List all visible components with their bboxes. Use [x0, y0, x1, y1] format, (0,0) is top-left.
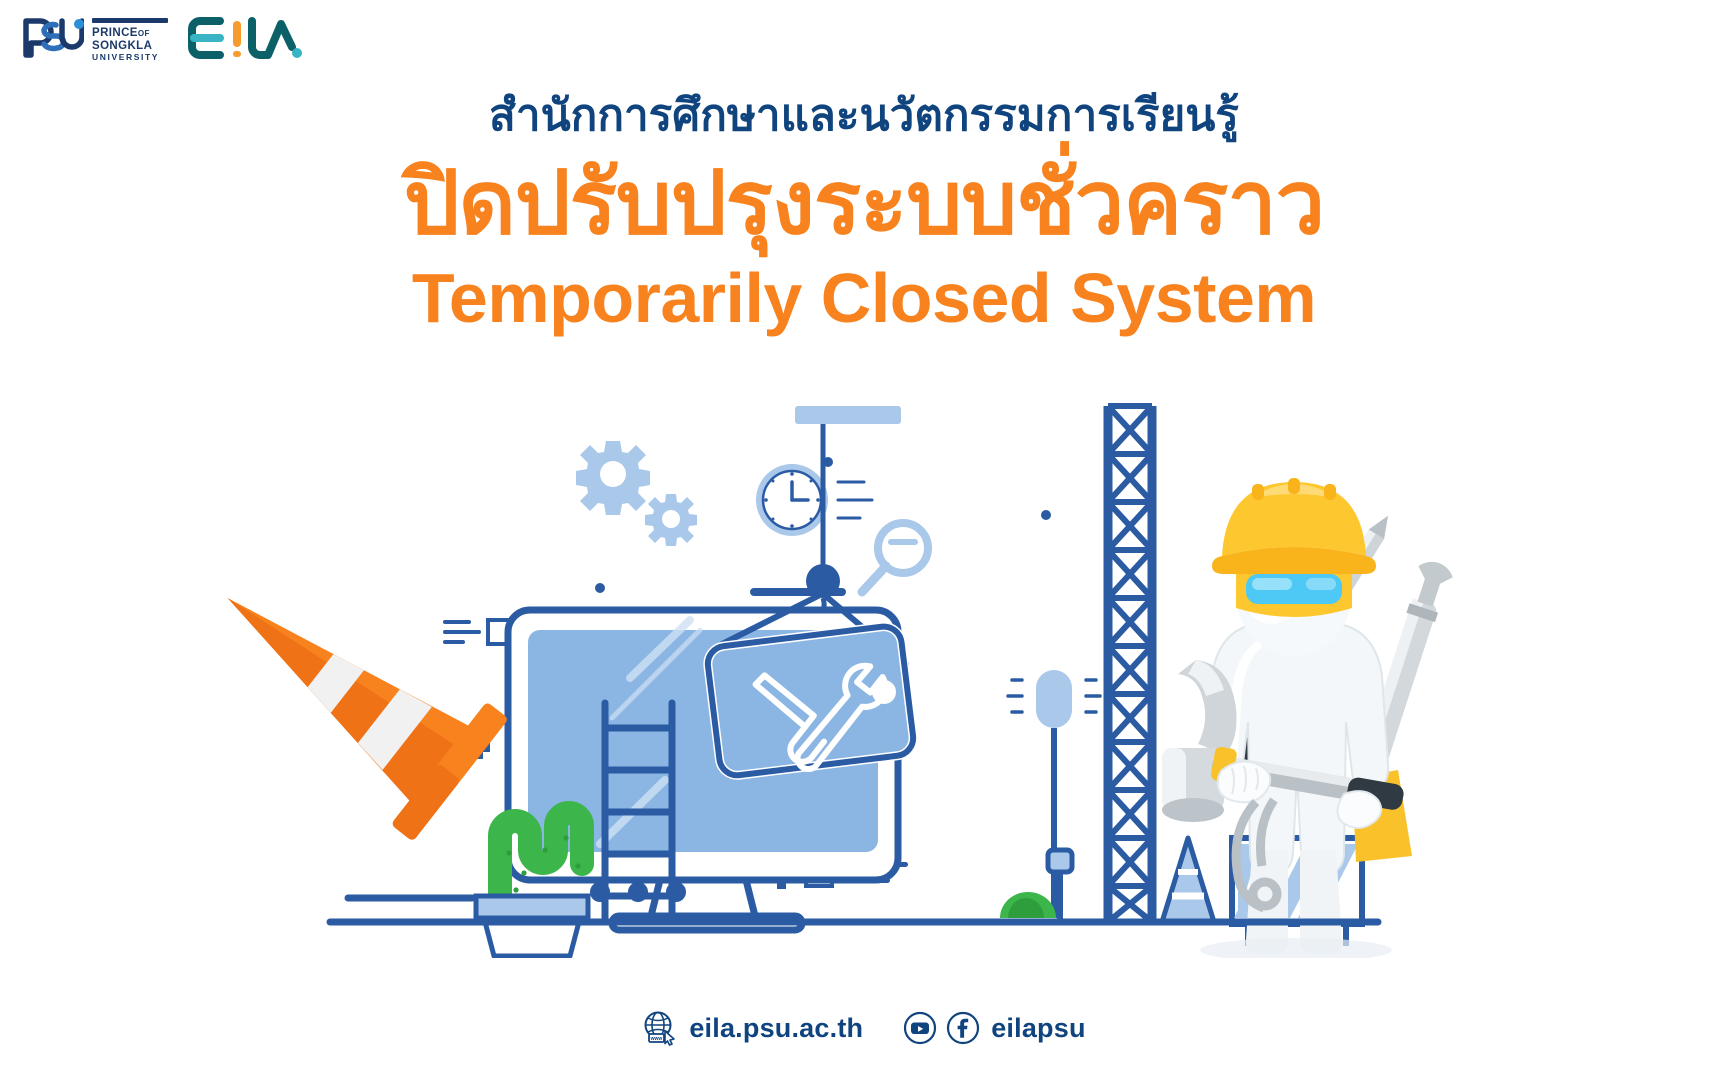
headings-block: สำนักการศึกษาและนวัตกรรมการเรียนรู้ ปิดป… [0, 88, 1728, 338]
title-english: Temporarily Closed System [0, 258, 1728, 339]
psu-monogram-icon [22, 15, 84, 61]
small-cone-icon [1162, 838, 1214, 922]
crane-tower-icon [1108, 406, 1152, 922]
psu-rule-divider [92, 18, 168, 23]
poster-canvas: PRINCEOF SONGKLA UNIVERSITY สำนักการศึกษ… [0, 0, 1728, 1080]
subtitle-thai: สำนักการศึกษาและนวัตกรรมการเรียนรู้ [0, 88, 1728, 143]
cactus-plant-icon [476, 813, 588, 956]
title-thai: ปิดปรับปรุงระบบชั่วคราว [0, 147, 1728, 260]
wall-clock-icon [756, 464, 872, 536]
facebook-icon[interactable] [946, 1011, 980, 1045]
social-icons [903, 1011, 980, 1045]
gears-icon [576, 441, 697, 546]
traffic-cone-icon [180, 536, 509, 841]
globe-www-icon: www [642, 1010, 678, 1046]
eila-logo-icon [188, 15, 304, 61]
social-group[interactable]: eilapsu [903, 1011, 1085, 1045]
logo-bar: PRINCEOF SONGKLA UNIVERSITY [22, 12, 304, 64]
psu-line-university: UNIVERSITY [92, 53, 168, 62]
website-url: eila.psu.ac.th [689, 1013, 863, 1044]
svg-text:www: www [650, 1036, 663, 1042]
ladder-feet [590, 882, 686, 902]
psu-wordmark: PRINCEOF SONGKLA UNIVERSITY [92, 14, 168, 63]
worker-mascot-icon [1162, 478, 1456, 958]
footer-bar: www eila.psu.ac.th eilapsu [0, 1010, 1728, 1046]
maintenance-illustration [0, 398, 1728, 958]
psu-line-prince: PRINCEOF [92, 27, 168, 39]
psu-logo: PRINCEOF SONGKLA UNIVERSITY [22, 14, 168, 63]
street-lamp-icon [1008, 670, 1100, 918]
magnifier-icon [862, 523, 928, 592]
social-handle: eilapsu [991, 1013, 1085, 1044]
shrub-icon [1000, 850, 1072, 920]
youtube-icon[interactable] [903, 1011, 937, 1045]
psu-line-songkla: SONGKLA [92, 40, 168, 52]
illustration-svg [0, 398, 1728, 958]
website-group[interactable]: www eila.psu.ac.th [642, 1010, 863, 1046]
